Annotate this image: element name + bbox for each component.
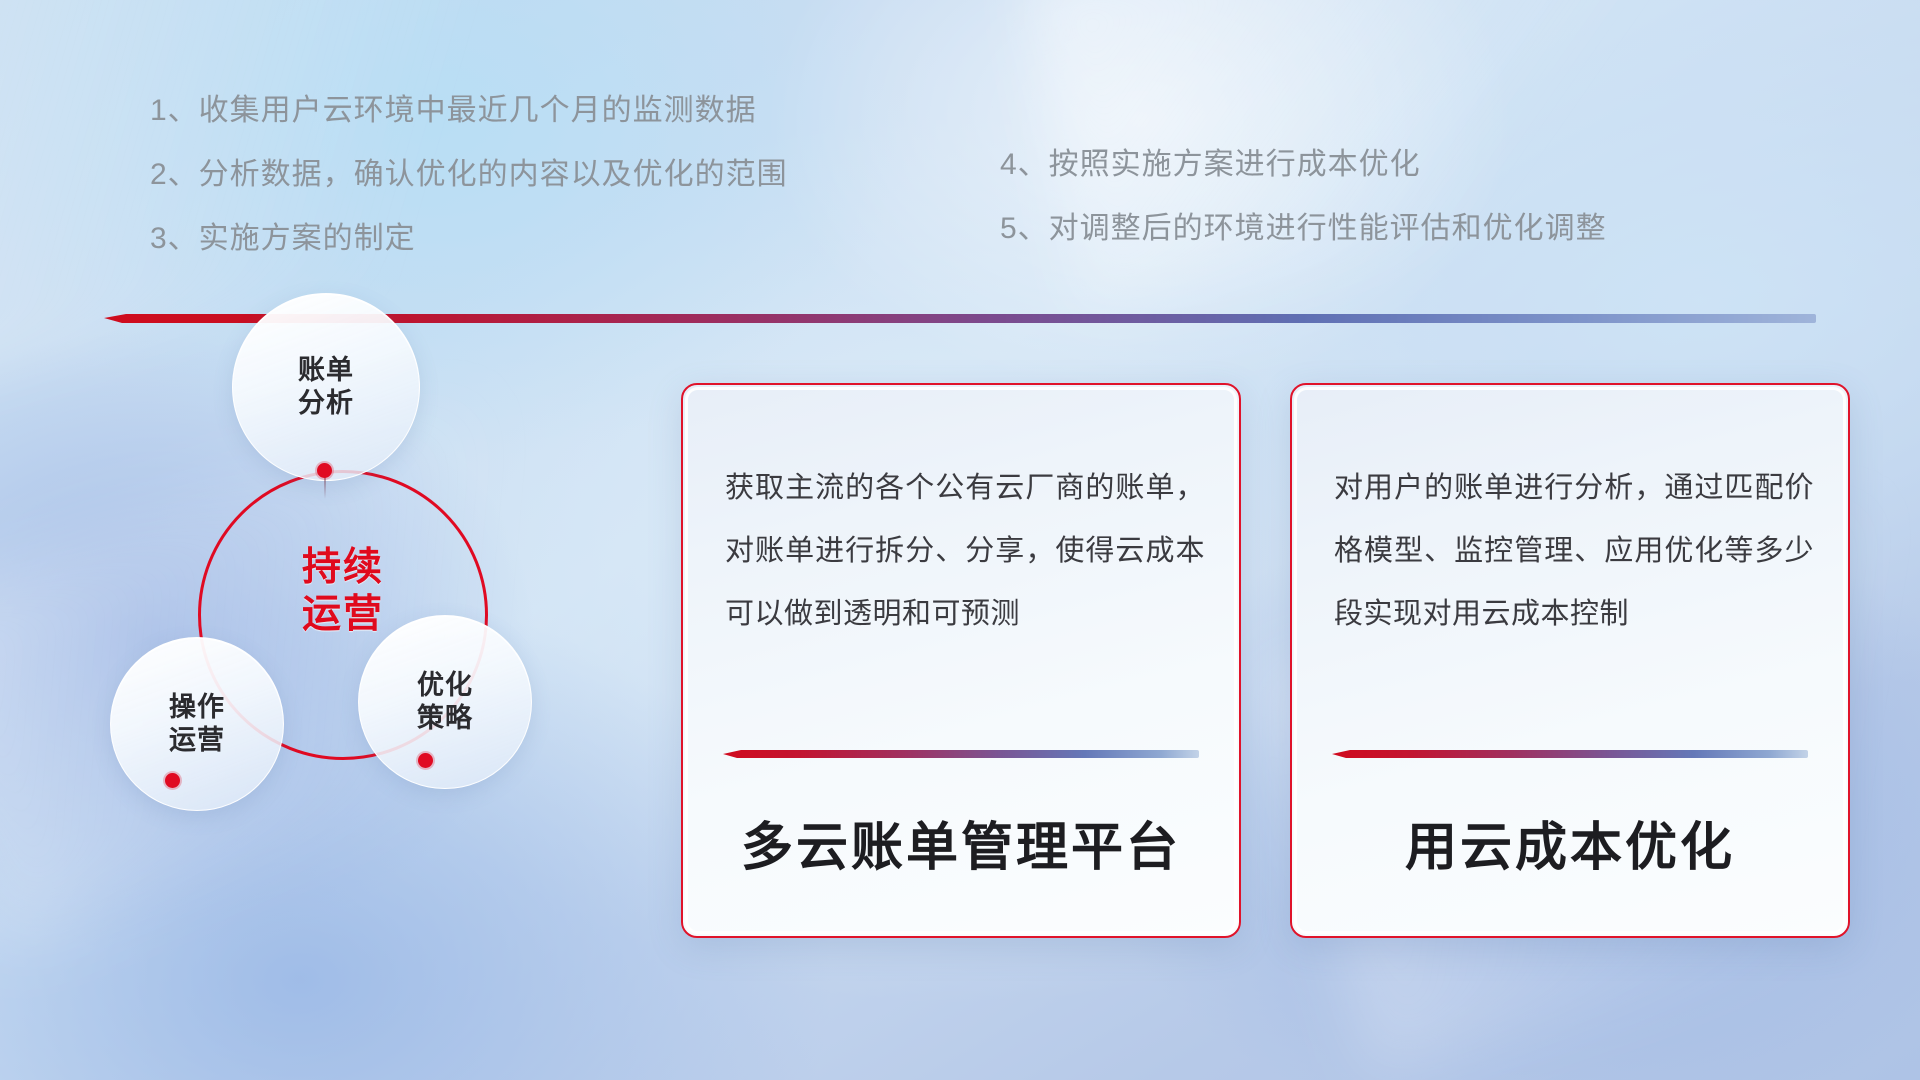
bubble-optimization-strategy-line1: 优化	[417, 670, 473, 700]
cycle-center-label: 持续 运营	[250, 545, 436, 639]
slide-canvas: 1、收集用户云环境中最近几个月的监测数据 2、分析数据，确认优化的内容以及优化的…	[0, 0, 1920, 1080]
bullet-item-3: 3、实施方案的制定	[150, 224, 788, 254]
card-cloud-cost-optimization[interactable]: 对用户的账单进行分析，通过匹配价格模型、监控管理、应用优化等多少段实现对用云成本…	[1290, 383, 1850, 938]
card-accent-bar	[1332, 750, 1808, 758]
card-multicloud-billing[interactable]: 获取主流的各个公有云厂商的账单，对账单进行拆分、分享，使得云成本可以做到透明和可…	[681, 383, 1241, 938]
bullet-item-4: 4、按照实施方案进行成本优化	[1000, 150, 1607, 180]
cycle-center-line1: 持续	[302, 546, 384, 589]
bubble-bill-analysis[interactable]: 账单 分析	[232, 293, 420, 481]
bullet-item-2: 2、分析数据，确认优化的内容以及优化的范围	[150, 160, 788, 190]
cycle-center-line2: 运营	[302, 593, 384, 636]
bullet-item-5: 5、对调整后的环境进行性能评估和优化调整	[1000, 214, 1607, 244]
bubble-bill-analysis-line2: 分析	[298, 388, 354, 418]
bullet-item-1: 1、收集用户云环境中最近几个月的监测数据	[150, 96, 788, 126]
bubble-operations[interactable]: 操作 运营	[110, 637, 284, 811]
bubble-operations-line1: 操作	[169, 692, 225, 722]
card-cloud-cost-optimization-body: 对用户的账单进行分析，通过匹配价格模型、监控管理、应用优化等多少段实现对用云成本…	[1334, 457, 1814, 647]
bubble-operations-label: 操作 运营	[169, 691, 225, 757]
card-multicloud-billing-title: 多云账单管理平台	[683, 805, 1239, 880]
bubble-optimization-strategy-label: 优化 策略	[417, 669, 473, 735]
cycle-diagram: 账单 分析 操作 运营 优化 策略 持续 运营	[100, 355, 550, 925]
bullet-list-right: 4、按照实施方案进行成本优化 5、对调整后的环境进行性能评估和优化调整	[1000, 150, 1607, 278]
bullet-list-left: 1、收集用户云环境中最近几个月的监测数据 2、分析数据，确认优化的内容以及优化的…	[150, 96, 788, 288]
card-multicloud-billing-body: 获取主流的各个公有云厂商的账单，对账单进行拆分、分享，使得云成本可以做到透明和可…	[725, 457, 1205, 647]
bubble-bill-analysis-label: 账单 分析	[298, 354, 354, 420]
node-tail-decoration	[324, 477, 326, 499]
bubble-bill-analysis-line1: 账单	[298, 355, 354, 385]
node-dot-right	[418, 753, 433, 768]
bubble-operations-line2: 运营	[169, 725, 225, 755]
card-accent-bar	[723, 750, 1199, 758]
bubble-optimization-strategy[interactable]: 优化 策略	[358, 615, 532, 789]
node-dot-top	[317, 463, 332, 478]
card-cloud-cost-optimization-title: 用云成本优化	[1292, 805, 1848, 880]
bubble-optimization-strategy-line2: 策略	[417, 703, 473, 733]
node-dot-left	[165, 773, 180, 788]
